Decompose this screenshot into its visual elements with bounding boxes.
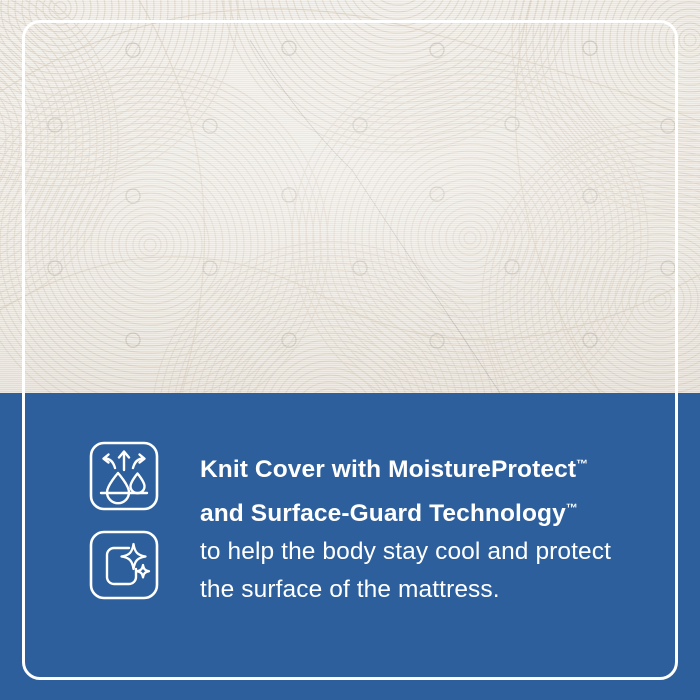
fabric-quilting-pattern xyxy=(0,0,700,393)
feature-headline-line-1: Knit Cover with MoistureProtect™ xyxy=(200,445,611,489)
surface-guard-sparkle-icon xyxy=(88,529,160,601)
feature-body-line-1: to help the body stay cool and protect xyxy=(200,533,611,571)
feature-icon-column xyxy=(88,440,160,601)
headline-line-1-text: Knit Cover with MoistureProtect xyxy=(200,456,576,483)
feature-card: Knit Cover with MoistureProtect™ and Sur… xyxy=(0,0,700,700)
trademark-symbol: ™ xyxy=(566,501,578,515)
feature-headline-line-2: and Surface-Guard Technology™ xyxy=(200,489,611,533)
feature-content: Knit Cover with MoistureProtect™ and Sur… xyxy=(0,393,700,700)
feature-body-line-2: the surface of the mattress. xyxy=(200,571,611,609)
headline-line-2-text: and Surface-Guard Technology xyxy=(200,500,566,527)
mattress-knit-cover-fabric xyxy=(0,0,700,393)
trademark-symbol: ™ xyxy=(576,457,588,471)
feature-text-block: Knit Cover with MoistureProtect™ and Sur… xyxy=(200,445,611,609)
moisture-wicking-icon xyxy=(88,440,160,512)
